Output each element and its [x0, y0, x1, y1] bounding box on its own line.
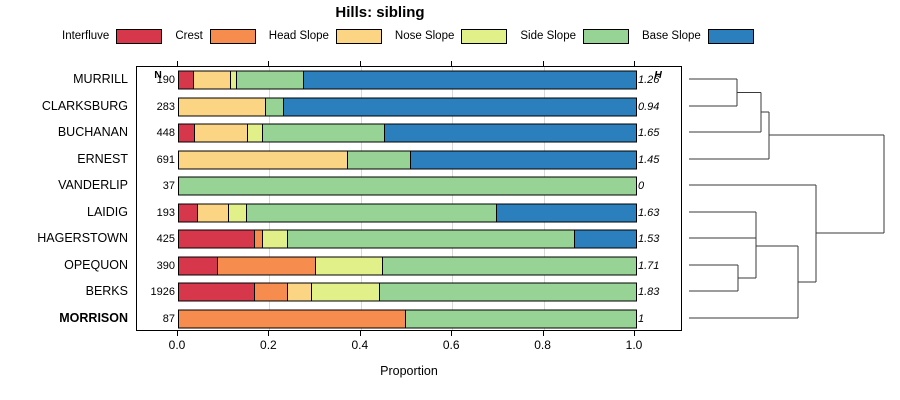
legend-label: Interfluve [62, 30, 109, 42]
x-tick-label: 0.0 [157, 338, 197, 352]
n-value: 1926 [141, 286, 175, 298]
y-axis-label-laidig: LAIDIG [0, 206, 128, 219]
bar-segment-base-slope [410, 151, 636, 168]
bar-row[interactable]: 6911.45 [137, 147, 681, 174]
bar-segment-side-slope [179, 178, 636, 195]
dendrogram [688, 66, 894, 331]
stacked-bar[interactable] [178, 71, 637, 90]
y-axis-label-vanderlip: VANDERLIP [0, 179, 128, 192]
bar-segment-side-slope [287, 231, 573, 248]
legend-swatch [583, 29, 629, 44]
stacked-bar[interactable] [178, 150, 637, 169]
n-value: 390 [141, 260, 175, 272]
legend-label: Side Slope [520, 30, 576, 42]
bar-segment-side-slope [405, 310, 636, 327]
bar-segment-side-slope [382, 257, 636, 274]
legend-swatch [708, 29, 754, 44]
x-axis-title: Proportion [136, 364, 682, 378]
bar-segment-head-slope [287, 284, 311, 301]
h-value: 0.94 [638, 101, 678, 113]
h-value: 1.63 [638, 207, 678, 219]
bar-rows: 1901.262830.944481.656911.453701931.6342… [137, 67, 681, 330]
bar-segment-interfluve [179, 72, 193, 89]
x-tick-label: 0.8 [523, 338, 563, 352]
legend-label: Head Slope [269, 30, 329, 42]
legend-swatch [461, 29, 507, 44]
bar-segment-interfluve [179, 231, 254, 248]
h-value: 1 [638, 313, 678, 325]
legend-swatch [116, 29, 162, 44]
x-tick [360, 331, 361, 336]
bar-segment-nose-slope [262, 231, 288, 248]
bar-segment-nose-slope [247, 125, 262, 142]
dendrogram-svg [688, 66, 894, 331]
stacked-bar[interactable] [178, 309, 637, 328]
n-value: 691 [141, 154, 175, 166]
x-tick [268, 331, 269, 336]
legend-item-nose-slope[interactable]: Nose Slope [395, 29, 507, 44]
bar-row[interactable]: 3901.71 [137, 253, 681, 280]
bar-segment-side-slope [236, 72, 303, 89]
bar-segment-base-slope [496, 204, 636, 221]
bar-row[interactable]: 1931.63 [137, 200, 681, 227]
h-value: 1.53 [638, 233, 678, 245]
x-tick [543, 331, 544, 336]
h-value: 0 [638, 180, 678, 192]
y-axis-label-clarksburg: CLARKSBURG [0, 100, 128, 113]
x-tick-label: 0.2 [248, 338, 288, 352]
n-value: 425 [141, 233, 175, 245]
bar-segment-head-slope [194, 125, 247, 142]
x-axis: 0.00.20.40.60.81.0 [136, 331, 682, 361]
stacked-bar[interactable] [178, 124, 637, 143]
bar-row[interactable]: 1901.26 [137, 67, 681, 94]
h-value: 1.71 [638, 260, 678, 272]
legend-item-head-slope[interactable]: Head Slope [269, 29, 382, 44]
bar-segment-side-slope [379, 284, 636, 301]
y-axis-label-hagerstown: HAGERSTOWN [0, 232, 128, 245]
bar-segment-interfluve [179, 284, 254, 301]
bar-segment-interfluve [179, 204, 197, 221]
stacked-bar[interactable] [178, 230, 637, 249]
stacked-bar[interactable] [178, 177, 637, 196]
legend-item-side-slope[interactable]: Side Slope [520, 29, 629, 44]
stacked-bar[interactable] [178, 283, 637, 302]
bar-segment-side-slope [262, 125, 384, 142]
legend-item-base-slope[interactable]: Base Slope [642, 29, 754, 44]
bar-segment-side-slope [347, 151, 409, 168]
n-value: 87 [141, 313, 175, 325]
bar-segment-base-slope [283, 98, 636, 115]
bar-segment-nose-slope [315, 257, 382, 274]
bar-segment-side-slope [246, 204, 497, 221]
bar-segment-crest [254, 231, 262, 248]
bar-row[interactable]: 2830.94 [137, 94, 681, 121]
y-axis-labels: MURRILLCLARKSBURGBUCHANANERNESTVANDERLIP… [0, 66, 132, 331]
y-axis-label-ernest: ERNEST [0, 153, 128, 166]
bar-segment-head-slope [197, 204, 228, 221]
bar-segment-base-slope [384, 125, 636, 142]
bar-segment-crest [179, 310, 405, 327]
y-axis-label-murrill: MURRILL [0, 73, 128, 86]
legend-label: Nose Slope [395, 30, 454, 42]
n-value: 283 [141, 101, 175, 113]
y-axis-label-berks: BERKS [0, 285, 128, 298]
bar-segment-side-slope [265, 98, 284, 115]
legend-item-crest[interactable]: Crest [175, 29, 255, 44]
bar-row[interactable]: 19261.83 [137, 279, 681, 306]
bar-row[interactable]: 370 [137, 173, 681, 200]
n-column-header: N [141, 69, 175, 81]
x-tick-label: 1.0 [614, 338, 654, 352]
chart-title: Hills: sibling [0, 4, 760, 21]
stacked-bar[interactable] [178, 203, 637, 222]
y-axis-label-buchanan: BUCHANAN [0, 126, 128, 139]
legend: InterfluveCrestHead SlopeNose SlopeSide … [62, 26, 774, 46]
n-value: 37 [141, 180, 175, 192]
bar-segment-interfluve [179, 125, 194, 142]
legend-label: Base Slope [642, 30, 701, 42]
x-tick [634, 331, 635, 336]
y-axis-label-opequon: OPEQUON [0, 259, 128, 272]
x-tick [177, 331, 178, 336]
stacked-bar[interactable] [178, 97, 637, 116]
h-value: 1.83 [638, 286, 678, 298]
bar-segment-crest [254, 284, 288, 301]
x-tick [451, 331, 452, 336]
h-column-header: H [638, 69, 678, 81]
bar-row[interactable]: 4481.65 [137, 120, 681, 147]
top-axis-ticks [136, 58, 682, 66]
bar-segment-nose-slope [311, 284, 379, 301]
legend-label: Crest [175, 30, 202, 42]
legend-swatch [336, 29, 382, 44]
x-tick-label: 0.4 [340, 338, 380, 352]
legend-swatch [210, 29, 256, 44]
n-value: 448 [141, 127, 175, 139]
bar-segment-crest [217, 257, 315, 274]
bar-segment-nose-slope [228, 204, 246, 221]
bar-segment-head-slope [179, 98, 265, 115]
chart-root: Hills: sibling InterfluveCrestHead Slope… [0, 0, 900, 400]
bar-row[interactable]: 871 [137, 306, 681, 333]
y-axis-label-morrison: MORRISON [0, 312, 128, 325]
bar-segment-base-slope [574, 231, 636, 248]
plot-panel: 1901.262830.944481.656911.453701931.6342… [136, 66, 682, 331]
h-value: 1.65 [638, 127, 678, 139]
n-value: 193 [141, 207, 175, 219]
bar-row[interactable]: 4251.53 [137, 226, 681, 253]
legend-item-interfluve[interactable]: Interfluve [62, 29, 162, 44]
bar-segment-interfluve [179, 257, 217, 274]
bar-segment-base-slope [303, 72, 636, 89]
h-value: 1.45 [638, 154, 678, 166]
x-tick-label: 0.6 [431, 338, 471, 352]
bar-segment-head-slope [179, 151, 347, 168]
bar-segment-head-slope [193, 72, 230, 89]
stacked-bar[interactable] [178, 256, 637, 275]
